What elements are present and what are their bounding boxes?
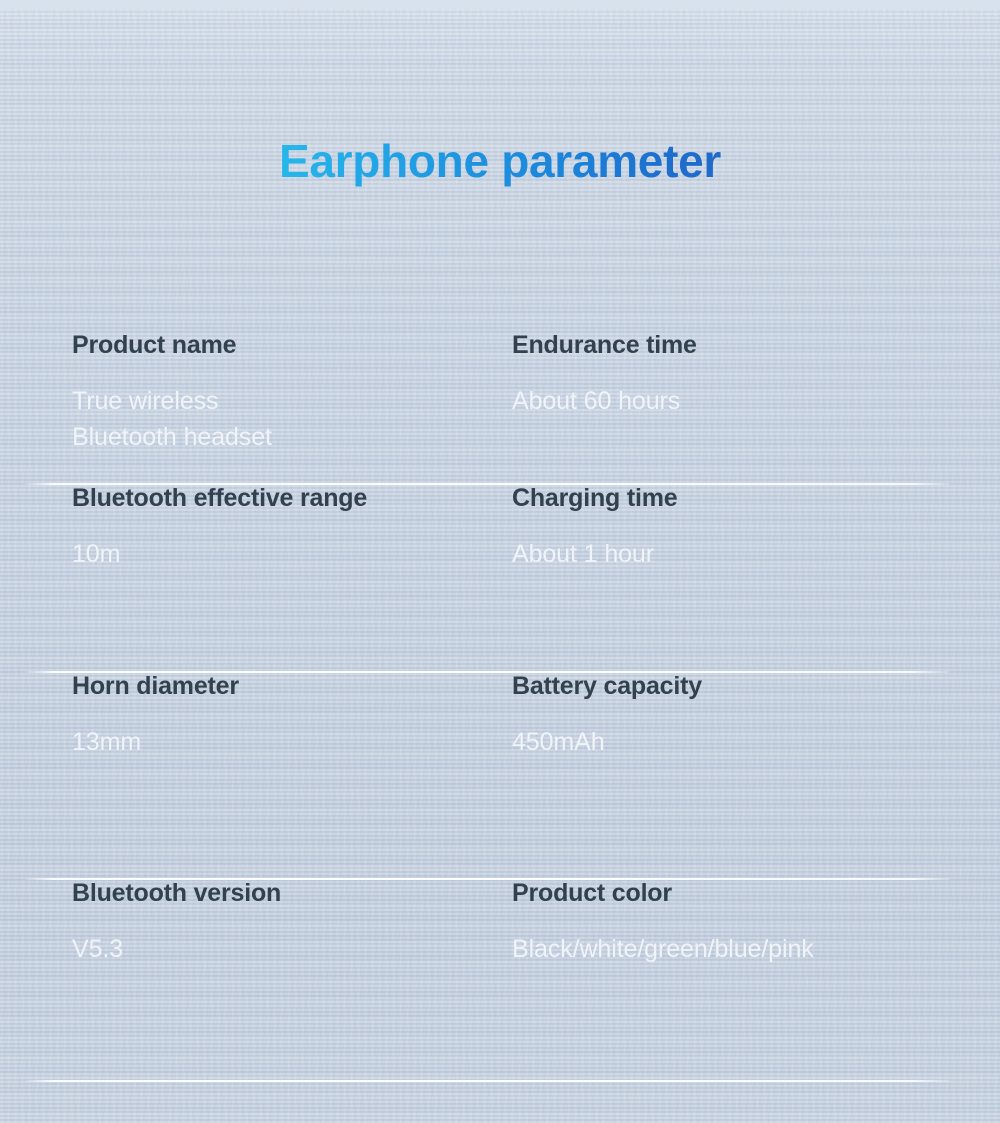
spec-cell-product-name: Product name True wireless Bluetooth hea… — [0, 330, 440, 483]
spec-label: Bluetooth version — [72, 878, 440, 908]
spec-row: Bluetooth effective range 10m Charging t… — [0, 483, 1000, 671]
page-content: Earphone parameter Product name True wir… — [0, 0, 1000, 1123]
row-divider — [25, 483, 950, 485]
spec-label: Endurance time — [512, 330, 1000, 360]
spec-label: Bluetooth effective range — [72, 483, 440, 513]
page-title: Earphone parameter — [279, 134, 721, 188]
row-divider — [25, 878, 950, 880]
spec-label: Product name — [72, 330, 440, 360]
spec-value: 13mm — [72, 725, 440, 761]
spec-value: 450mAh — [512, 725, 1000, 761]
row-divider — [25, 1080, 950, 1082]
spec-cell-battery-capacity: Battery capacity 450mAh — [440, 671, 1000, 878]
spec-label: Product color — [512, 878, 1000, 908]
spec-cell-charging-time: Charging time About 1 hour — [440, 483, 1000, 671]
spec-value: Black/white/green/blue/pink — [512, 932, 1000, 968]
spec-value: True wireless Bluetooth headset — [72, 384, 440, 455]
spec-value: About 1 hour — [512, 537, 1000, 573]
spec-row: Product name True wireless Bluetooth hea… — [0, 330, 1000, 483]
spec-label: Battery capacity — [512, 671, 1000, 701]
spec-cell-bluetooth-effective-range: Bluetooth effective range 10m — [0, 483, 440, 671]
page-title-container: Earphone parameter — [0, 134, 1000, 188]
spec-label: Horn diameter — [72, 671, 440, 701]
spec-value: V5.3 — [72, 932, 440, 968]
spec-cell-endurance-time: Endurance time About 60 hours — [440, 330, 1000, 483]
product-spec-page: Earphone parameter Product name True wir… — [0, 0, 1000, 1123]
spec-cell-product-color: Product color Black/white/green/blue/pin… — [440, 878, 1000, 1080]
spec-label: Charging time — [512, 483, 1000, 513]
spec-value: About 60 hours — [512, 384, 1000, 420]
spec-row: Bluetooth version V5.3 Product color Bla… — [0, 878, 1000, 1080]
spec-table: Product name True wireless Bluetooth hea… — [0, 330, 1000, 1080]
spec-cell-bluetooth-version: Bluetooth version V5.3 — [0, 878, 440, 1080]
spec-value: 10m — [72, 537, 440, 573]
spec-cell-horn-diameter: Horn diameter 13mm — [0, 671, 440, 878]
spec-row: Horn diameter 13mm Battery capacity 450m… — [0, 671, 1000, 878]
row-divider — [25, 671, 950, 673]
